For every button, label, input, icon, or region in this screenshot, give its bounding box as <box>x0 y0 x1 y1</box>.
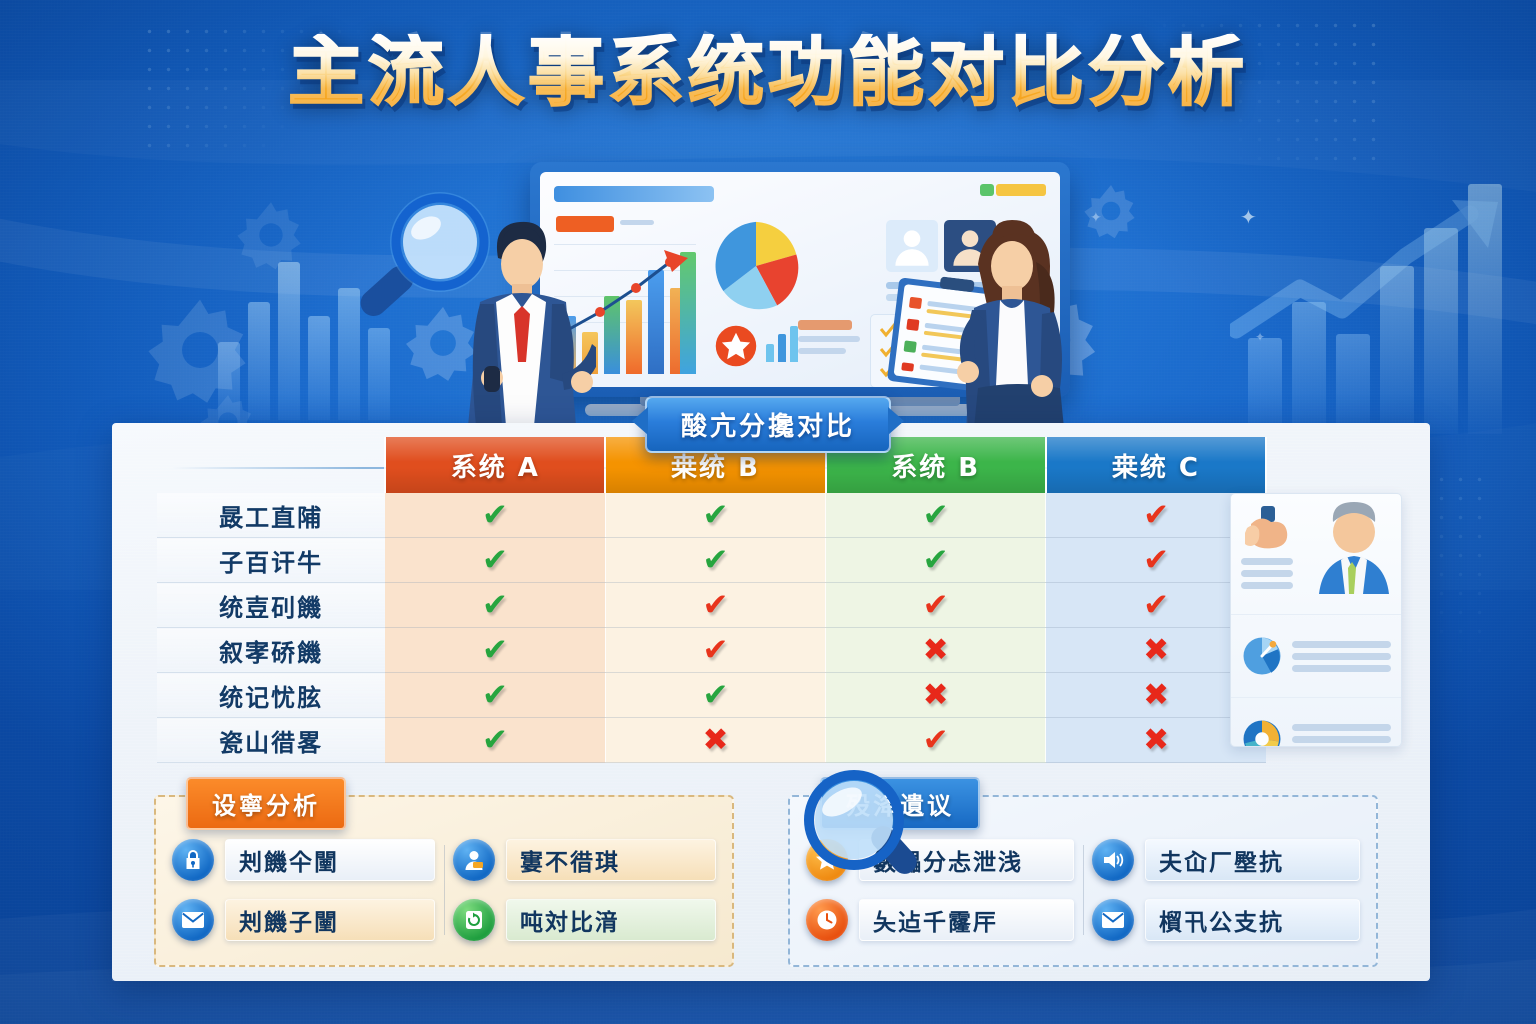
businessman-presenter <box>436 206 596 426</box>
side-card-line <box>1292 724 1391 731</box>
thumbs-up-icon <box>1245 504 1301 550</box>
speaker-icon <box>1092 839 1134 881</box>
table-row: 子百讦牛✔✔✔✔ <box>157 538 1266 583</box>
cross-red-icon: ✖ <box>923 635 949 666</box>
feature-chip-label: 夨迠千霳厈 <box>859 899 1074 941</box>
comparison-table-wrapper: 系统 A 桒统 B 系统 B 桒统 C 晸工直陠✔✔✔✔子百讦牛✔✔✔✔统壴矵饑… <box>157 437 1267 763</box>
check-green-icon: ✔ <box>702 680 728 711</box>
center-badge: 酸亢分攙对比 <box>645 396 891 453</box>
screen-pill <box>980 184 994 196</box>
feature-chip[interactable]: 寠不徣琪 <box>453 839 716 881</box>
check-green-icon: ✔ <box>702 545 728 576</box>
gauge-chart-icon <box>1241 635 1283 677</box>
feature-chip[interactable]: 刔饑仐闉 <box>172 839 435 881</box>
table-header-blank <box>157 437 385 493</box>
cross-red-icon: ✖ <box>702 725 728 756</box>
side-card-line <box>1292 653 1391 660</box>
table-cell[interactable]: ✔ <box>826 583 1046 628</box>
table-cell[interactable]: ✔ <box>826 538 1046 583</box>
side-card-line <box>1292 736 1391 743</box>
side-card-gauge <box>1231 615 1401 698</box>
page-title: 主流人事系统功能对比分析 <box>0 34 1536 110</box>
side-card-profile <box>1231 494 1401 615</box>
refresh-icon <box>453 899 495 941</box>
feature-chip-label: 寠不徣琪 <box>506 839 716 881</box>
side-card-line <box>1241 570 1293 577</box>
clock-icon <box>806 899 848 941</box>
table-row: 晸工直陠✔✔✔✔ <box>157 493 1266 538</box>
table-cell[interactable]: ✔ <box>385 628 605 673</box>
analysis-panel-left: 设寧分析 刔饑仐闉寠不徣琪刔饑子闉吨対比湇 <box>154 795 734 967</box>
check-green-icon: ✔ <box>923 545 949 576</box>
table-cell[interactable]: ✔ <box>605 583 825 628</box>
hero-illustration <box>330 150 1210 420</box>
feature-chip-label: 橮卂公支抗 <box>1145 899 1360 941</box>
table-cell[interactable]: ✔ <box>385 538 605 583</box>
feature-chip[interactable]: 橮卂公支抗 <box>1092 899 1360 941</box>
table-row: 统壴矵饑✔✔✔✔ <box>157 583 1266 628</box>
table-row-label: 叙宯硚饑 <box>157 628 385 673</box>
check-green-icon: ✔ <box>482 635 508 666</box>
table-row: 瓷山徣畧✔✖✔✖ <box>157 718 1266 763</box>
table-row-label: 统记忧胘 <box>157 673 385 718</box>
side-card-donut <box>1231 698 1401 747</box>
avatar <box>1311 502 1397 594</box>
donut-chart-icon <box>1241 718 1283 747</box>
user-card-icon <box>453 839 495 881</box>
cross-red-icon: ✖ <box>1143 635 1169 666</box>
screen-searchbar <box>554 186 714 202</box>
feature-chip[interactable]: 夫屳厂壂抗 <box>1092 839 1360 881</box>
lock-icon <box>172 839 214 881</box>
cross-red-icon: ✖ <box>923 680 949 711</box>
check-red-icon: ✔ <box>1143 500 1169 531</box>
table-cell[interactable]: ✔ <box>385 583 605 628</box>
check-red-icon: ✔ <box>1143 590 1169 621</box>
envelope-icon <box>1092 899 1134 941</box>
screen-piechart <box>708 218 804 314</box>
main-card: 系统 A 桒统 B 系统 B 桒统 C 晸工直陠✔✔✔✔子百讦牛✔✔✔✔统壴矵饑… <box>112 423 1430 981</box>
check-red-icon: ✔ <box>923 725 949 756</box>
cross-red-icon: ✖ <box>1143 680 1169 711</box>
side-card-line <box>1292 641 1391 648</box>
check-red-icon: ✔ <box>702 635 728 666</box>
comparison-table: 系统 A 桒统 B 系统 B 桒统 C 晸工直陠✔✔✔✔子百讦牛✔✔✔✔统壴矵饑… <box>157 437 1267 763</box>
table-row: 统记忧胘✔✔✖✖ <box>157 673 1266 718</box>
feature-chip[interactable]: 刔饑子闉 <box>172 899 435 941</box>
feature-chip-label: 吨対比湇 <box>506 899 716 941</box>
table-cell[interactable]: ✔ <box>605 493 825 538</box>
feature-chip-label: 夫屳厂壂抗 <box>1145 839 1360 881</box>
table-row-label: 晸工直陠 <box>157 493 385 538</box>
table-cell[interactable]: ✔ <box>826 493 1046 538</box>
check-green-icon: ✔ <box>482 545 508 576</box>
table-row: 叙宯硚饑✔✔✖✖ <box>157 628 1266 673</box>
screen-profile-card <box>886 220 938 272</box>
screen-greybar <box>798 336 860 342</box>
feature-chip-label: 刔饑仐闉 <box>225 839 435 881</box>
check-green-icon: ✔ <box>482 590 508 621</box>
side-card-line <box>1292 665 1391 672</box>
check-green-icon: ✔ <box>482 680 508 711</box>
check-red-icon: ✔ <box>1143 545 1169 576</box>
table-body: 晸工直陠✔✔✔✔子百讦牛✔✔✔✔统壴矵饑✔✔✔✔叙宯硚饑✔✔✖✖统记忧胘✔✔✖✖… <box>157 493 1266 763</box>
screen-star-badge <box>714 324 758 368</box>
check-red-icon: ✔ <box>702 590 728 621</box>
table-cell[interactable]: ✔ <box>385 493 605 538</box>
screen-greybar <box>798 320 852 330</box>
check-green-icon: ✔ <box>702 500 728 531</box>
side-preview-card <box>1230 493 1402 747</box>
panel-left-chips: 刔饑仐闉寠不徣琪刔饑子闉吨対比湇 <box>172 839 716 941</box>
cross-red-icon: ✖ <box>1143 725 1169 756</box>
businesswoman-analyst <box>942 208 1102 428</box>
screen-greybar <box>620 220 654 225</box>
magnifier-icon <box>802 768 922 898</box>
table-cell[interactable]: ✔ <box>605 628 825 673</box>
screen-minibar <box>790 326 798 362</box>
table-cell[interactable]: ✔ <box>826 718 1046 763</box>
screen-minibar <box>778 334 786 362</box>
screen-pill <box>996 184 1046 196</box>
screen-minibar <box>766 344 774 362</box>
table-row-label: 统壴矵饑 <box>157 583 385 628</box>
panel-left-tag: 设寧分析 <box>186 777 346 830</box>
table-row-label: 子百讦牛 <box>157 538 385 583</box>
page-title-text: 主流人事系统功能对比分析 <box>288 34 1248 110</box>
feature-chip[interactable]: 夨迠千霳厈 <box>806 899 1074 941</box>
side-card-line <box>1241 558 1293 565</box>
table-header-system-c[interactable]: 桒统 C <box>1046 437 1266 493</box>
table-header-system-a[interactable]: 系统 A <box>385 437 605 493</box>
feature-chip[interactable]: 吨対比湇 <box>453 899 716 941</box>
table-cell[interactable]: ✔ <box>385 673 605 718</box>
table-cell[interactable]: ✖ <box>605 718 825 763</box>
table-cell[interactable]: ✔ <box>605 673 825 718</box>
check-green-icon: ✔ <box>482 500 508 531</box>
side-card-line <box>1241 582 1293 589</box>
check-red-icon: ✔ <box>923 590 949 621</box>
table-row-label: 瓷山徣畧 <box>157 718 385 763</box>
table-cell[interactable]: ✔ <box>385 718 605 763</box>
check-green-icon: ✔ <box>482 725 508 756</box>
envelope-icon <box>172 899 214 941</box>
table-cell[interactable]: ✖ <box>826 628 1046 673</box>
center-badge-label: 酸亢分攙对比 <box>645 396 891 453</box>
table-cell[interactable]: ✖ <box>826 673 1046 718</box>
screen-greybar <box>798 348 846 354</box>
check-green-icon: ✔ <box>923 500 949 531</box>
table-cell[interactable]: ✔ <box>605 538 825 583</box>
feature-chip-label: 刔饑子闉 <box>225 899 435 941</box>
